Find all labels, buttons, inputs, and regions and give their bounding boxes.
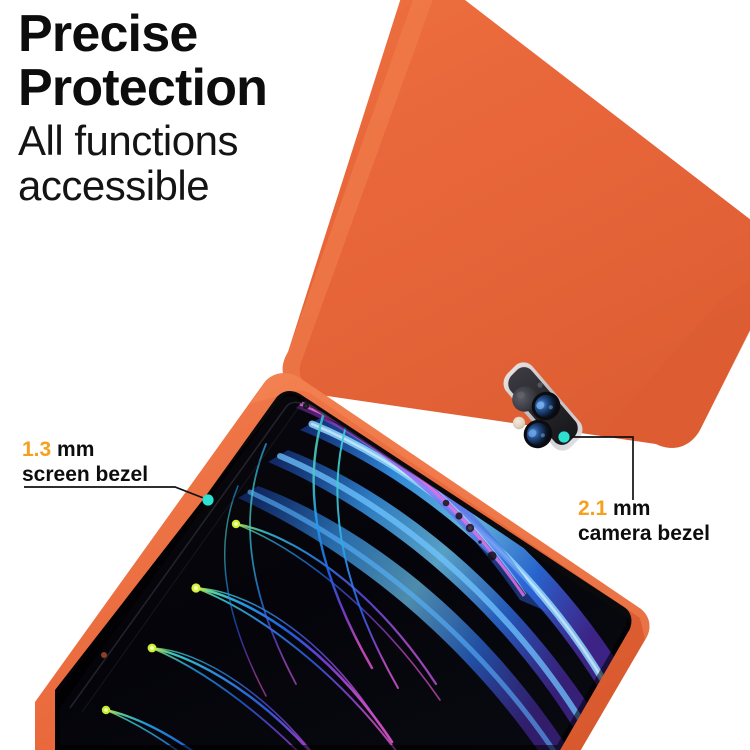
callout-marker-left: [202, 494, 213, 505]
product-marketing-image: Precise Protection All functions accessi…: [0, 0, 750, 750]
callout-left-label: screen bezel: [22, 463, 148, 488]
callout-left-value: 1.3: [22, 438, 51, 461]
callout-right-value: 2.1: [578, 497, 607, 520]
camera-mic-dot: [537, 382, 542, 387]
callout-right-unit: mm: [613, 497, 650, 520]
mic-pinhole: [101, 652, 107, 658]
camera-flash: [513, 417, 525, 429]
page-title: Precise Protection: [18, 8, 348, 115]
callout-camera-bezel: 2.1 mm camera bezel: [578, 497, 710, 547]
callout-screen-bezel: 1.3 mm screen bezel: [22, 438, 148, 488]
page-subtitle: All functions accessible: [18, 118, 348, 209]
callout-left-unit: mm: [57, 438, 94, 461]
callout-marker-right: [558, 431, 569, 442]
callout-right-label: camera bezel: [578, 522, 710, 547]
